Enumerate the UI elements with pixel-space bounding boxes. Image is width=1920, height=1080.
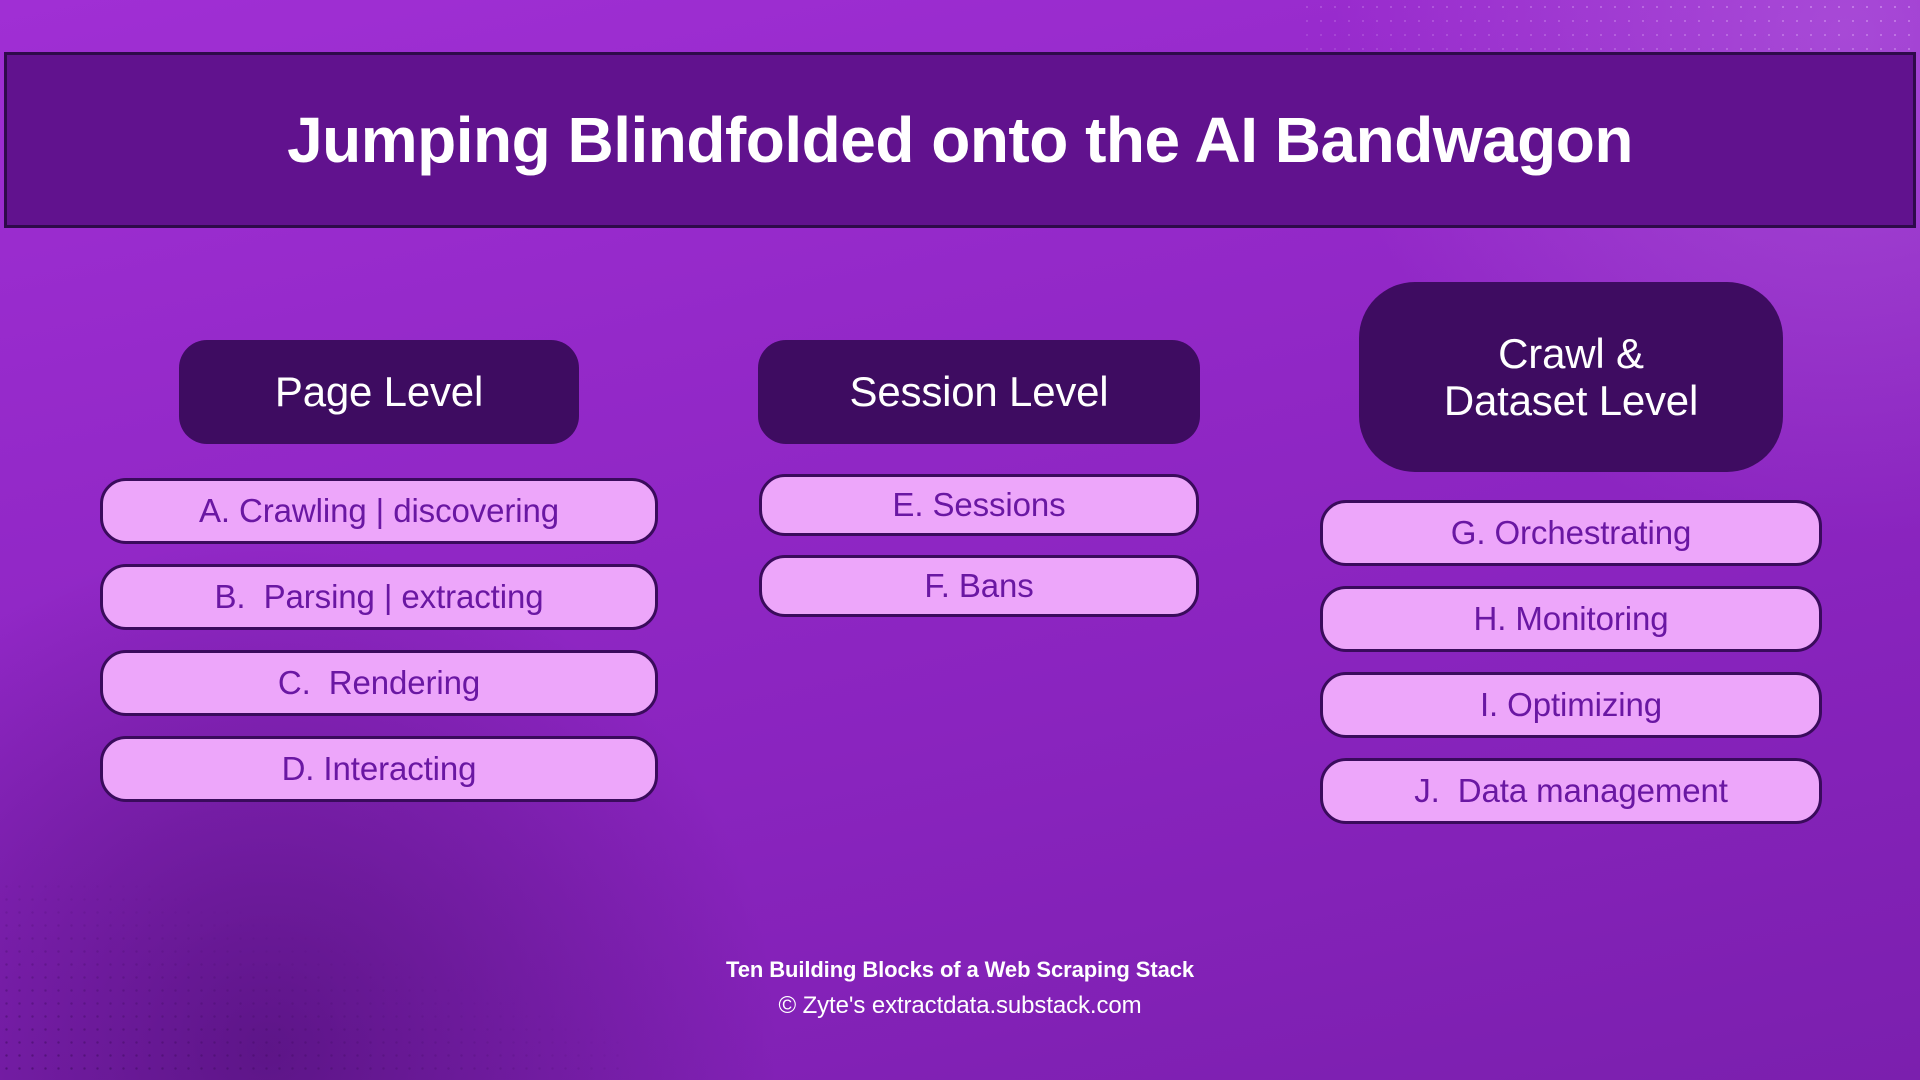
- column-page-level: Page Level A. Crawling | discovering B. …: [94, 262, 664, 922]
- list-item[interactable]: J. Data management: [1320, 758, 1822, 824]
- column-header-session-level: Session Level: [758, 340, 1200, 444]
- columns-container: Page Level A. Crawling | discovering B. …: [0, 262, 1920, 922]
- item-list-crawl-dataset-level: G. Orchestrating H. Monitoring I. Optimi…: [1316, 500, 1826, 844]
- list-item[interactable]: G. Orchestrating: [1320, 500, 1822, 566]
- title-banner: Jumping Blindfolded onto the AI Bandwago…: [4, 52, 1916, 228]
- list-item[interactable]: A. Crawling | discovering: [100, 478, 658, 544]
- list-item[interactable]: E. Sessions: [759, 474, 1199, 536]
- column-header-page-level: Page Level: [179, 340, 579, 444]
- list-item[interactable]: H. Monitoring: [1320, 586, 1822, 652]
- list-item[interactable]: F. Bans: [759, 555, 1199, 617]
- list-item[interactable]: D. Interacting: [100, 736, 658, 802]
- list-item[interactable]: B. Parsing | extracting: [100, 564, 658, 630]
- column-header-line-2: Dataset Level: [1444, 377, 1698, 424]
- column-crawl-dataset-level: Crawl & Dataset Level G. Orchestrating H…: [1316, 262, 1826, 922]
- infographic-canvas: Jumping Blindfolded onto the AI Bandwago…: [0, 0, 1920, 1080]
- column-header-line-1: Crawl &: [1444, 330, 1698, 377]
- page-title: Jumping Blindfolded onto the AI Bandwago…: [287, 108, 1633, 172]
- footer-attribution: © Zyte's extractdata.substack.com: [0, 989, 1920, 1024]
- column-header-crawl-dataset-level: Crawl & Dataset Level: [1359, 282, 1783, 472]
- footer-caption: Ten Building Blocks of a Web Scraping St…: [0, 956, 1920, 985]
- column-session-level: Session Level E. Sessions F. Bans: [754, 262, 1204, 922]
- list-item[interactable]: I. Optimizing: [1320, 672, 1822, 738]
- list-item[interactable]: C. Rendering: [100, 650, 658, 716]
- item-list-page-level: A. Crawling | discovering B. Parsing | e…: [94, 478, 664, 822]
- item-list-session-level: E. Sessions F. Bans: [754, 474, 1204, 636]
- footer: Ten Building Blocks of a Web Scraping St…: [0, 956, 1920, 1023]
